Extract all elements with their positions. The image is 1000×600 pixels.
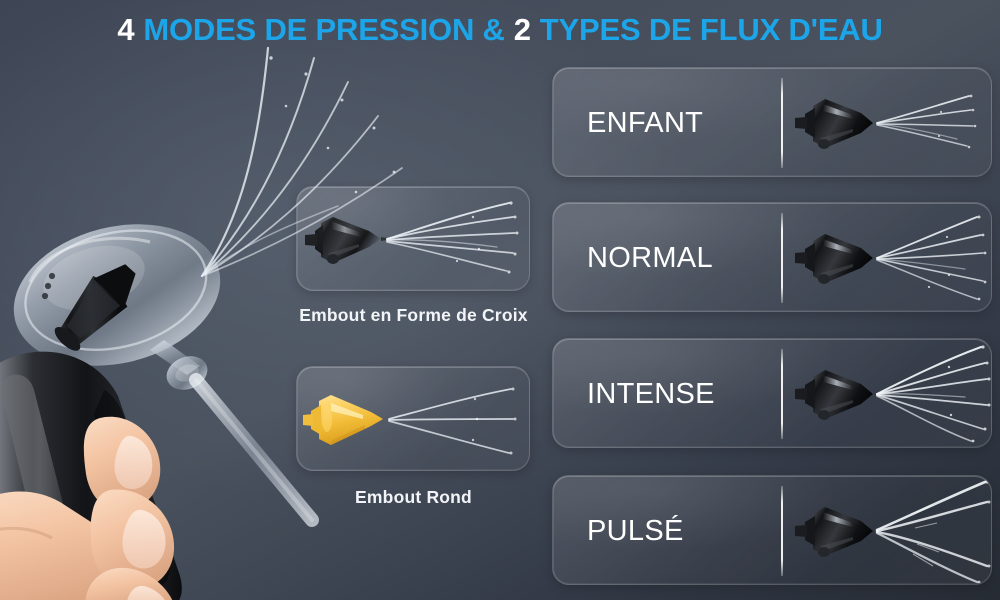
page-title: 4 MODES DE PRESSION & 2 TYPES DE FLUX D'… <box>0 6 1000 52</box>
mode-label-enfant: ENFANT <box>587 68 777 177</box>
title-number-modes: 4 <box>117 14 134 45</box>
mode-label-pulse: PULSÉ <box>587 476 777 585</box>
mode-label-normal: NORMAL <box>587 203 777 312</box>
tip-card-round[interactable] <box>296 366 530 471</box>
round-tip-illustration <box>297 367 530 471</box>
mode-spray-normal <box>791 203 992 312</box>
title-text-types: TYPES DE FLUX D'EAU <box>540 14 883 45</box>
mode-divider <box>781 78 783 168</box>
mode-spray-enfant <box>791 68 992 177</box>
nozzle-icon <box>795 99 873 149</box>
mode-divider <box>781 213 783 303</box>
nozzle-body-yellow <box>303 395 383 445</box>
mode-card-pulse[interactable]: PULSÉ <box>552 475 992 585</box>
infographic-root: 4 MODES DE PRESSION & 2 TYPES DE FLUX D'… <box>0 0 1000 600</box>
nozzle-icon <box>795 370 873 420</box>
mode-divider <box>781 349 783 439</box>
title-number-types: 2 <box>514 14 531 45</box>
mode-card-normal[interactable]: NORMAL <box>552 202 992 312</box>
mode-card-enfant[interactable]: ENFANT <box>552 67 992 177</box>
mode-card-intense[interactable]: INTENSE <box>552 338 992 448</box>
water-tube <box>196 380 312 520</box>
product-hero-image: MODE <box>0 190 312 600</box>
title-text-modes: MODES DE PRESSION & <box>143 14 504 45</box>
water-flosser-illustration: MODE <box>0 190 312 600</box>
mode-spray-pulse <box>791 476 992 585</box>
mode-label-intense: INTENSE <box>587 339 777 448</box>
tip-card-cross[interactable] <box>296 186 530 291</box>
nozzle-body <box>305 217 393 264</box>
mode-spray-intense <box>791 339 992 448</box>
mode-divider <box>781 486 783 576</box>
nozzle-icon <box>795 234 873 284</box>
cross-tip-illustration <box>297 187 530 291</box>
nozzle-icon <box>795 507 873 557</box>
